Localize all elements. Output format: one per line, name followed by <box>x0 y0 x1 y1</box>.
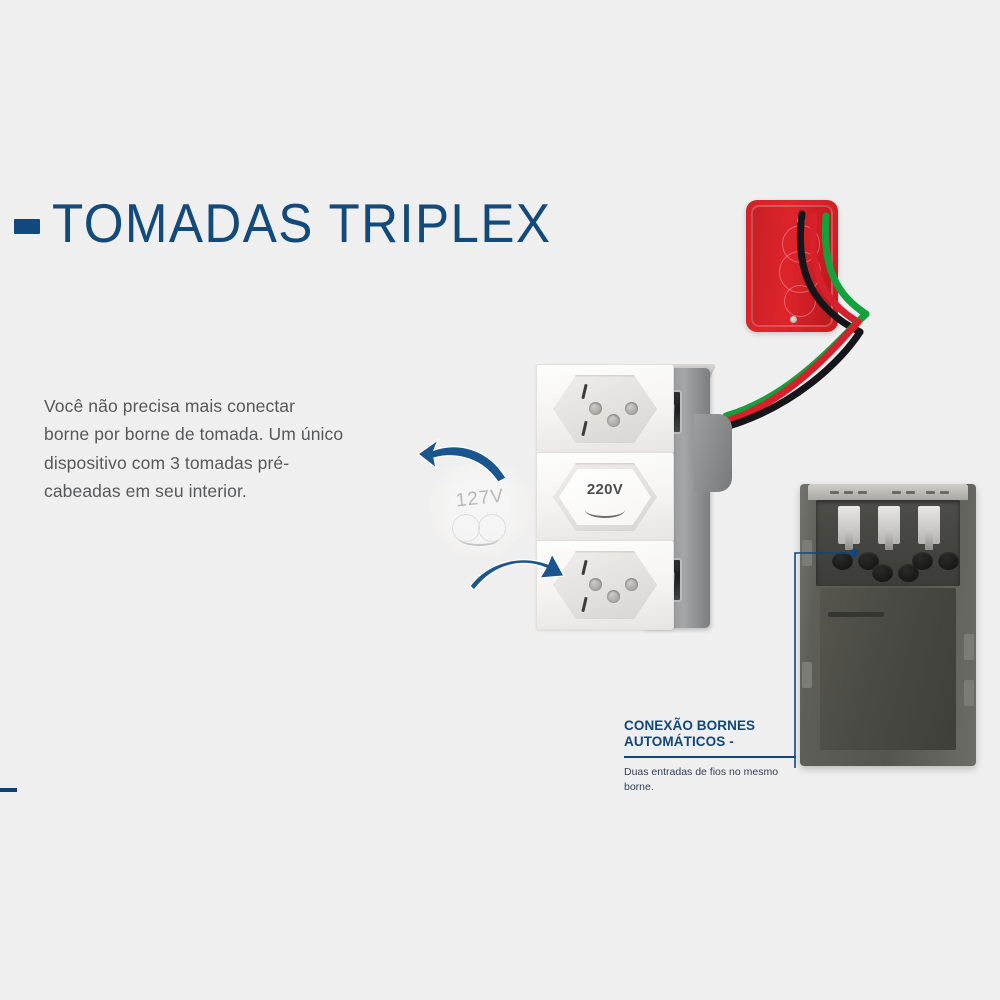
callout-leader-line <box>790 540 870 770</box>
vent-slot <box>844 491 853 494</box>
socket-pin-left <box>589 578 602 591</box>
lever-stem <box>885 528 893 550</box>
socket-slit <box>581 421 587 436</box>
socket-slit <box>581 560 587 575</box>
title-dash-marker <box>14 219 40 234</box>
left-edge-accent-bar <box>0 788 17 792</box>
callout-divider <box>624 756 796 758</box>
poster-stage: TOMADAS TRIPLEX Você não precisa mais co… <box>0 0 1000 1000</box>
callout-heading-line2: AUTOMÁTICOS - <box>624 734 734 749</box>
terminal-lever <box>838 506 860 544</box>
leader-endpoint-dot <box>850 549 858 557</box>
socket-slit <box>581 384 587 399</box>
socket-gang-2: 220V <box>536 452 674 542</box>
socket-gang-1 <box>536 364 674 454</box>
sticker-arc <box>585 502 625 518</box>
callout-block: CONEXÃO BORNES AUTOMÁTICOS - Duas entrad… <box>624 718 800 795</box>
wire-entry-hole <box>938 552 959 570</box>
socket-pin-right <box>625 578 638 591</box>
vent-slot <box>892 491 901 494</box>
vent-slot <box>858 491 867 494</box>
socket-pin-left <box>589 402 602 415</box>
rear-top-cap <box>808 484 968 500</box>
vent-slot <box>940 491 949 494</box>
callout-description: Duas entradas de fios no mesmo borne. <box>624 765 800 795</box>
vent-slot <box>830 491 839 494</box>
terminal-lever <box>918 506 940 544</box>
voltage-sticker-220v-label: 220V <box>559 481 651 498</box>
intro-paragraph: Você não precisa mais conectar borne por… <box>44 392 344 505</box>
terminal-lever <box>878 506 900 544</box>
vent-slot <box>906 491 915 494</box>
rear-side-tab <box>964 634 974 660</box>
vent-slot <box>926 491 935 494</box>
socket-pin-right <box>625 402 638 415</box>
wire-entry-hole-pair <box>912 552 962 572</box>
wire-entry-hole <box>872 564 893 582</box>
callout-heading-line1: CONEXÃO BORNES <box>624 718 755 733</box>
module-wire-nose <box>694 414 732 492</box>
rear-side-tab <box>964 680 974 706</box>
swap-arrow-down-right-icon <box>468 546 568 602</box>
socket-pin-earth <box>607 414 620 427</box>
page-title: TOMADAS TRIPLEX <box>14 196 589 251</box>
lever-stem <box>925 528 933 550</box>
voltage-sticker-220v: 220V <box>559 469 651 525</box>
socket-recess-hex <box>553 551 657 619</box>
socket-pin-earth <box>607 590 620 603</box>
socket-slit <box>581 597 587 612</box>
socket-recess-hex <box>553 375 657 443</box>
green-wire-lower <box>726 314 866 416</box>
sticker-arc <box>458 530 500 546</box>
wire-entry-hole <box>912 552 933 570</box>
swap-arrow-up-left-icon <box>414 432 514 488</box>
callout-heading: CONEXÃO BORNES AUTOMÁTICOS - <box>624 718 800 751</box>
title-text: TOMADAS TRIPLEX <box>52 196 551 251</box>
